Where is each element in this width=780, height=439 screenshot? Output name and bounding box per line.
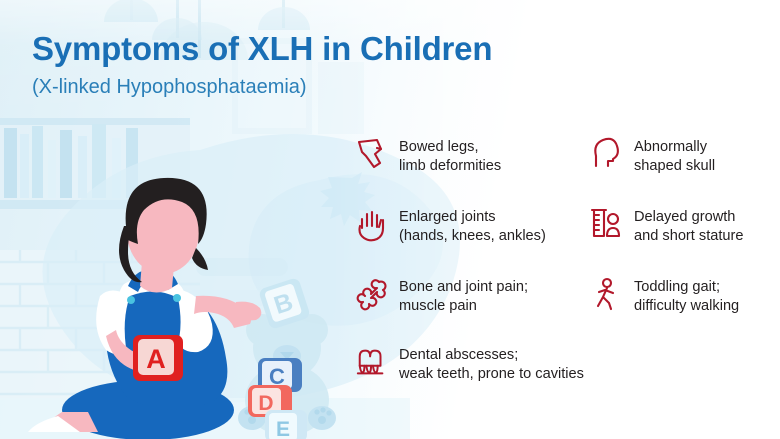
bone-icon: [355, 276, 389, 312]
symptom-label: Dental abscesses; weak teeth, prone to c…: [399, 344, 584, 385]
page-subtitle: (X-linked Hypophosphataemia): [32, 76, 592, 98]
overall-button-right: [173, 294, 181, 302]
symptom-item-enlarged-joints: Enlarged joints (hands, knees, ankles): [355, 206, 546, 247]
symptom-item-delayed-growth: Delayed growth and short stature: [590, 206, 744, 247]
symptom-label: Enlarged joints (hands, knees, ankles): [399, 206, 546, 247]
growth-ruler-icon: [590, 206, 624, 242]
symptom-label: Bowed legs, limb deformities: [399, 136, 501, 177]
symptom-item-toddling-gait: Toddling gait; difficulty walking: [590, 276, 739, 317]
svg-text:A: A: [146, 344, 166, 374]
block-A: A: [133, 335, 183, 381]
teeth-icon: [355, 344, 389, 380]
symptom-label: Toddling gait; difficulty walking: [634, 276, 739, 317]
symptom-item-skull: Abnormally shaped skull: [590, 136, 715, 177]
symptom-item-bowed-legs: Bowed legs, limb deformities: [355, 136, 501, 177]
symptom-item-bone-pain: Bone and joint pain; muscle pain: [355, 276, 528, 317]
infographic-poster: B A C D: [0, 0, 780, 439]
page-title: Symptoms of XLH in Children: [32, 32, 592, 67]
block-E: E: [265, 410, 307, 439]
svg-text:E: E: [276, 418, 290, 439]
head-profile-icon: [590, 136, 624, 172]
bowed-leg-icon: [355, 136, 389, 172]
symptom-item-dental: Dental abscesses; weak teeth, prone to c…: [355, 344, 584, 385]
walking-person-icon: [590, 276, 624, 312]
symptom-label: Delayed growth and short stature: [634, 206, 744, 247]
overall-button-left: [127, 296, 135, 304]
title-block: Symptoms of XLH in Children (X-linked Hy…: [32, 32, 592, 98]
hand-joints-icon: [355, 206, 389, 242]
symptom-label: Bone and joint pain; muscle pain: [399, 276, 528, 317]
symptom-label: Abnormally shaped skull: [634, 136, 715, 177]
